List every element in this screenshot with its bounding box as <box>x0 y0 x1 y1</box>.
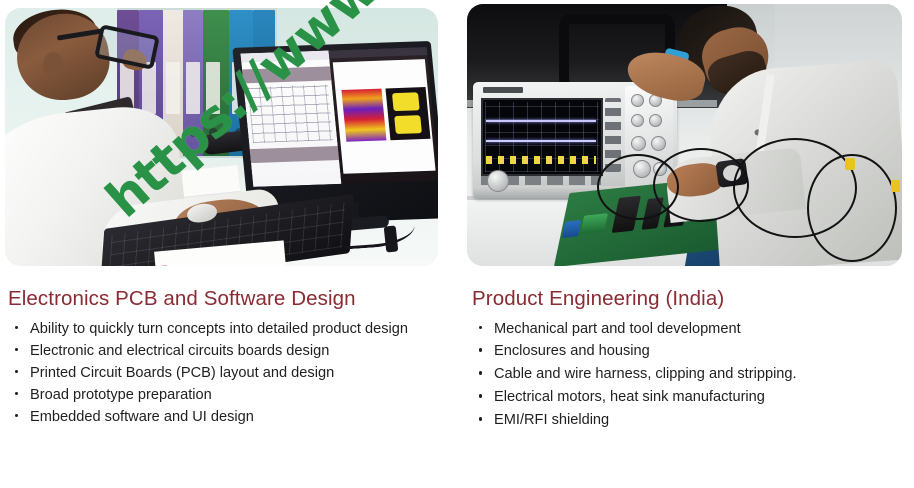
list-item: Cable and wire harness, clipping and str… <box>472 364 910 386</box>
list-item-label: Mechanical part and tool development <box>494 321 741 337</box>
list-item: Enclosures and housing <box>472 341 910 363</box>
list-item-label: Printed Circuit Boards (PCB) layout and … <box>30 365 334 381</box>
pcb-layout-window <box>329 47 438 184</box>
bullet-list-electronics: Ability to quickly turn concepts into de… <box>8 319 460 428</box>
bullet-dot-icon <box>15 348 18 351</box>
oscilloscope-screen <box>481 98 603 176</box>
list-item-label: Ability to quickly turn concepts into de… <box>30 321 408 337</box>
list-item: EMI/RFI shielding <box>472 410 910 432</box>
person-ear <box>43 52 63 78</box>
list-item: Broad prototype preparation <box>8 385 460 405</box>
list-item: Ability to quickly turn concepts into de… <box>8 319 460 339</box>
bullet-list-product-engineering: Mechanical part and tool development Enc… <box>472 319 910 432</box>
list-item: Printed Circuit Boards (PCB) layout and … <box>8 363 460 383</box>
bullet-dot-icon <box>15 326 18 329</box>
pcb-render-dark <box>385 87 430 140</box>
bullet-dot-icon <box>15 414 18 417</box>
list-item: Electrical motors, heat sink manufacturi… <box>472 387 910 409</box>
list-item-label: Electrical motors, heat sink manufacturi… <box>494 389 765 405</box>
bullet-dot-icon <box>479 326 482 329</box>
oscilloscope-main-knob <box>487 170 509 192</box>
bullet-dot-icon <box>479 417 482 420</box>
photo-electronics-pcb-software-design <box>5 8 438 266</box>
monitor-screen <box>240 47 438 187</box>
bullet-dot-icon <box>15 392 18 395</box>
list-item-label: Cable and wire harness, clipping and str… <box>494 366 797 382</box>
list-item-label: Enclosures and housing <box>494 343 650 359</box>
waveform-trace-1 <box>486 120 596 122</box>
waveform-trace-2 <box>486 140 596 142</box>
list-item: Mechanical part and tool development <box>472 319 910 341</box>
pink-marker <box>153 265 168 266</box>
heading-product-engineering-india: Product Engineering (India) <box>472 288 910 311</box>
bullet-dot-icon <box>479 348 482 351</box>
probe-cable-loop-4 <box>807 154 897 262</box>
probe-clip-yellow-2 <box>891 180 900 192</box>
probe-clip-yellow <box>845 158 855 170</box>
column-electronics-pcb-software-design: Electronics PCB and Software Design Abil… <box>8 288 460 429</box>
usb-dongle <box>384 225 399 252</box>
list-item: Electronic and electrical circuits board… <box>8 341 460 361</box>
list-item-label: Embedded software and UI design <box>30 409 254 425</box>
list-item: Embedded software and UI design <box>8 407 460 427</box>
schematic-window <box>240 50 341 186</box>
list-item-label: Electronic and electrical circuits board… <box>30 343 329 359</box>
slide-canvas: Electronics PCB and Software Design Abil… <box>0 0 914 488</box>
binder-lavender <box>183 10 203 160</box>
waveform-trace-3 <box>486 156 596 164</box>
bullet-dot-icon <box>479 394 482 397</box>
bullet-dot-icon <box>479 371 482 374</box>
photo-product-engineering-india <box>467 4 902 266</box>
pcb-render-color <box>341 89 386 142</box>
list-item-label: Broad prototype preparation <box>30 387 212 403</box>
bullet-dot-icon <box>15 370 18 373</box>
heading-electronics-pcb-software-design: Electronics PCB and Software Design <box>8 288 460 311</box>
list-item-label: EMI/RFI shielding <box>494 412 609 428</box>
column-product-engineering-india: Product Engineering (India) Mechanical p… <box>472 288 910 433</box>
